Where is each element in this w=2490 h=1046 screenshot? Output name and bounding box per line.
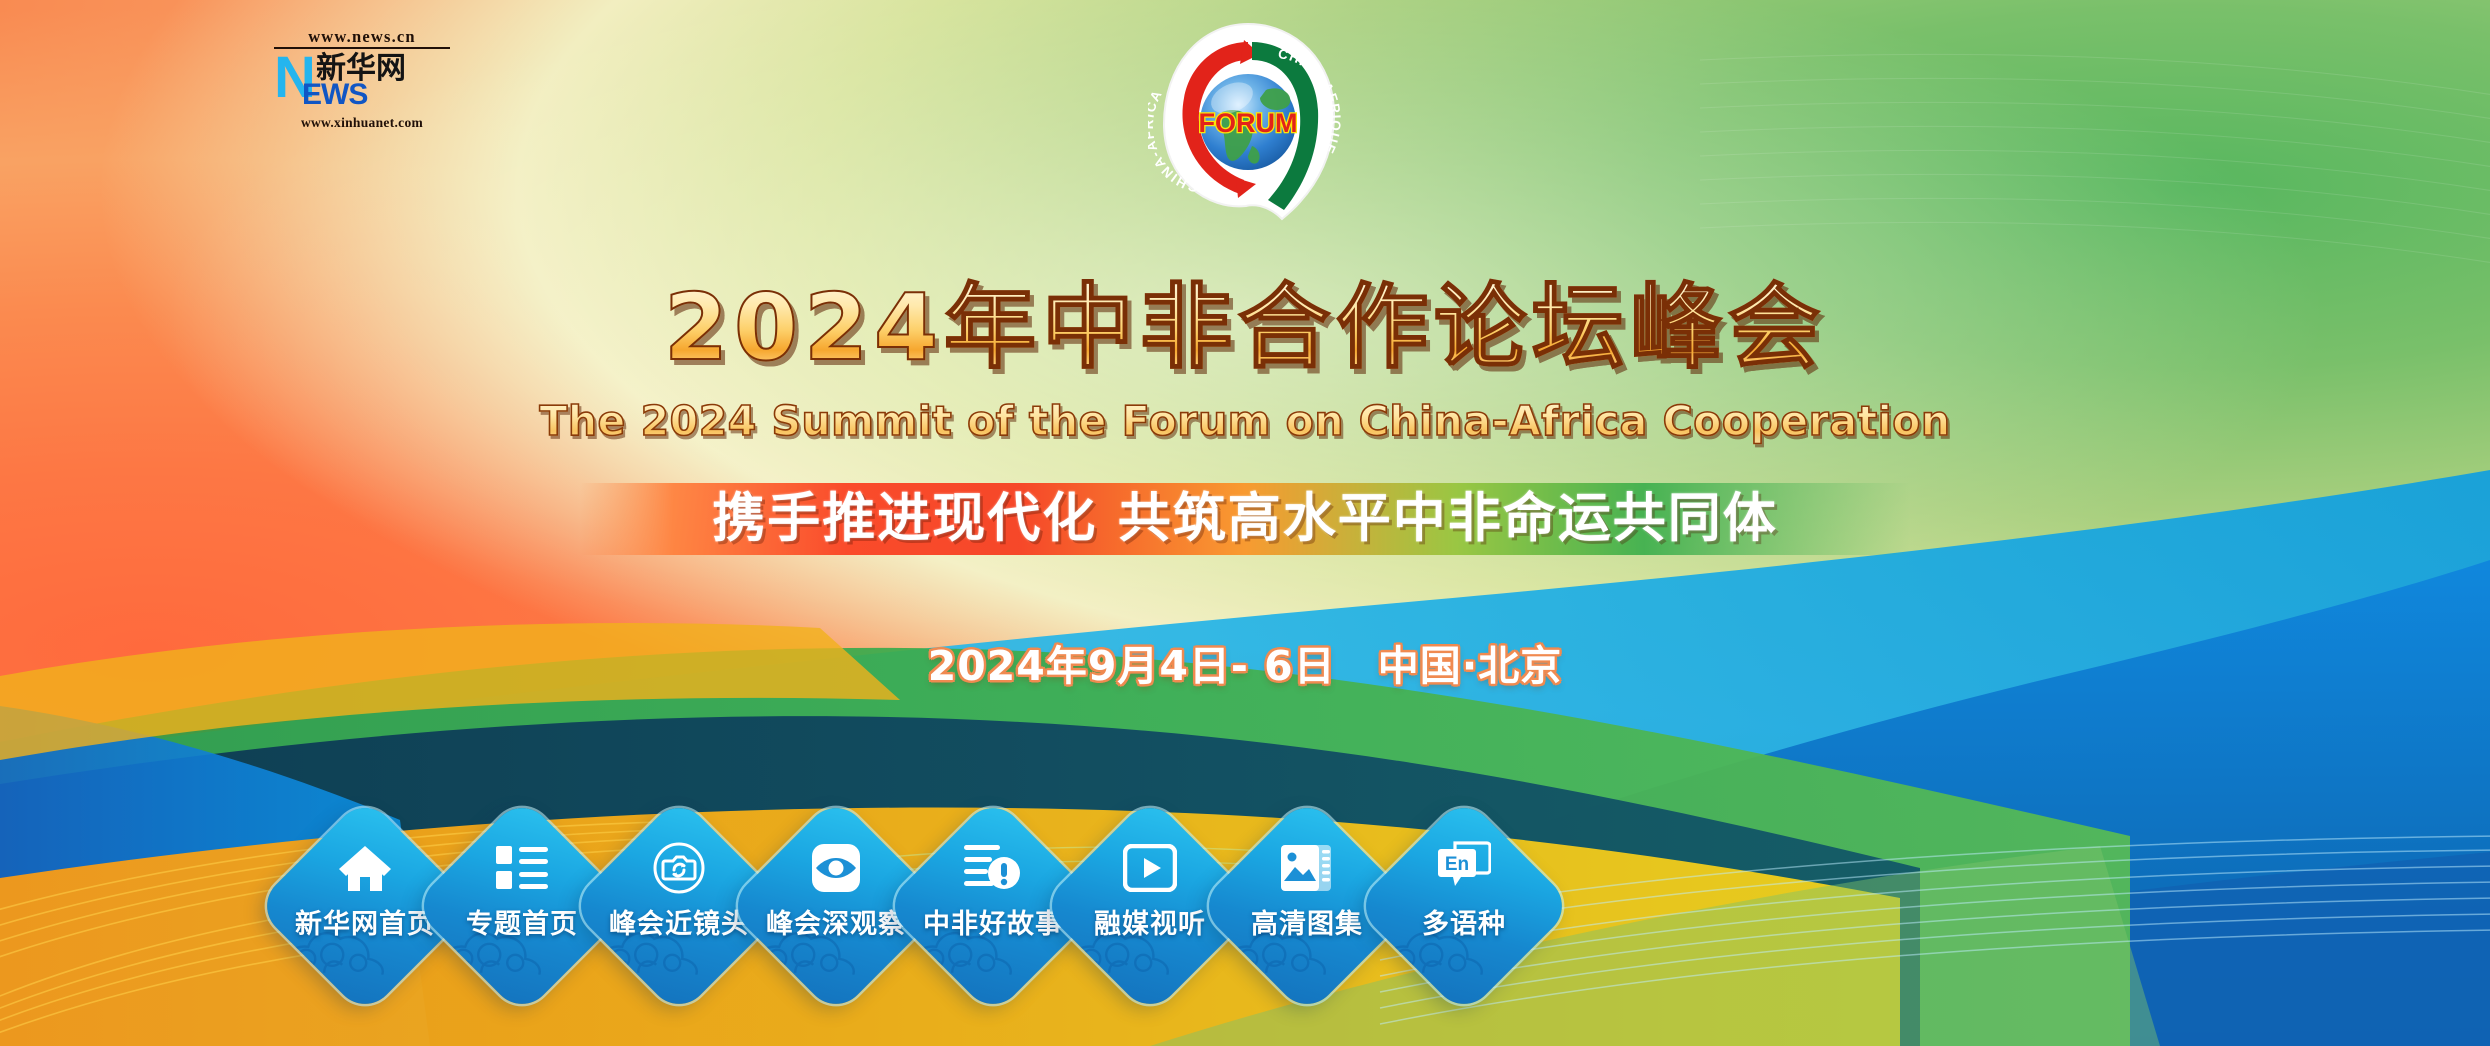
nav-item-multilingual[interactable]: En 多语种 bbox=[1364, 806, 1564, 1006]
nav-label: 多语种 bbox=[1344, 910, 1584, 940]
logo-letters-ews: EWS bbox=[302, 79, 367, 111]
event-location: 中国·北京 bbox=[1378, 642, 1563, 690]
summit-title-cn: 2024年中非合作论坛峰会 bbox=[0, 278, 2490, 378]
nav-diamond-row: 新华网首页 bbox=[0, 806, 2490, 1046]
emblem-forum-text: FORUM bbox=[1199, 108, 1298, 138]
event-dateline: 2024年9月4日- 6日中国·北京 bbox=[0, 632, 2490, 692]
xinhua-logo[interactable]: www.news.cn N 新华网 EWS www.xinhuanet.com bbox=[272, 28, 452, 134]
focac-emblem: FORUM CHINA-AFRICA CHINE-AFRIQUE bbox=[1148, 14, 1348, 230]
event-date: 2024年9月4日- 6日 bbox=[928, 642, 1336, 690]
logo-top-url: www.news.cn bbox=[272, 28, 452, 46]
svg-text:En: En bbox=[1445, 854, 1469, 875]
summit-title-en: The 2024 Summit of the Forum on China-Af… bbox=[0, 396, 2490, 446]
logo-wordmark: N 新华网 EWS bbox=[272, 51, 452, 113]
slogan-text: 携手推进现代化 共筑高水平中非命运共同体 bbox=[0, 483, 2490, 555]
slogan-banner: 携手推进现代化 共筑高水平中非命运共同体 bbox=[0, 483, 2490, 555]
focac-summit-banner: www.news.cn N 新华网 EWS www.xinhuanet.com bbox=[0, 0, 2490, 1046]
logo-swoosh-icon bbox=[392, 85, 458, 111]
logo-bottom-url: www.xinhuanet.com bbox=[272, 115, 452, 131]
language-en-icon: En bbox=[1364, 840, 1564, 896]
diamond-shape bbox=[1354, 796, 1575, 1017]
